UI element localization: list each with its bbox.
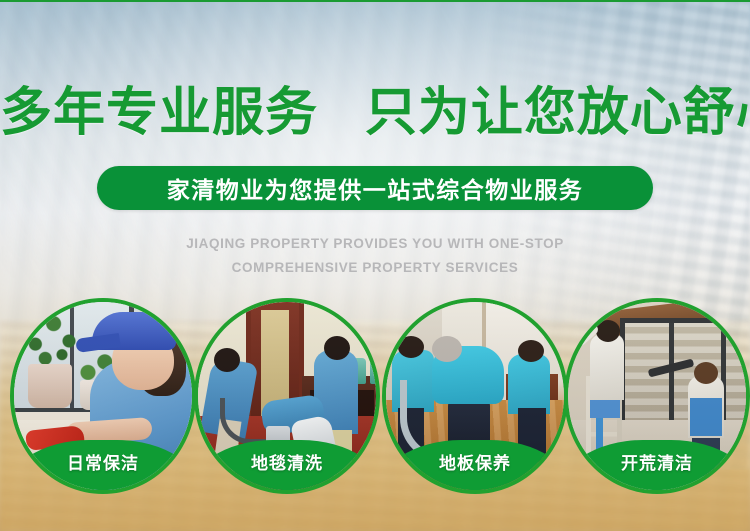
service-label: 日常保洁 (67, 449, 139, 474)
service-circle-floor-maintenance[interactable]: 地板保养 (382, 298, 568, 494)
service-circle-post-construction-cleaning[interactable]: 开荒清洁 (564, 298, 750, 494)
promo-banner: 多年专业服务 只为让您放心舒心 家清物业为您提供一站式综合物业服务 JIAQIN… (0, 0, 750, 531)
service-circle-carpet-cleaning[interactable]: 地毯清洗 (194, 298, 380, 494)
service-circle-daily-cleaning[interactable]: 日常保洁 (10, 298, 196, 494)
service-label: 地毯清洗 (251, 449, 323, 474)
headline-part-1: 多年专业服务 (0, 84, 318, 142)
top-accent-rule (0, 0, 750, 2)
service-circle-row: 日常保洁 地毯清洗 (0, 298, 750, 494)
english-subtitle-line-2: COMPREHENSIVE PROPERTY SERVICES (0, 256, 750, 280)
english-subtitle-line-1: JIAQING PROPERTY PROVIDES YOU WITH ONE-S… (186, 236, 564, 251)
tagline-pill: 家清物业为您提供一站式综合物业服务 (97, 166, 653, 210)
service-label: 开荒清洁 (621, 449, 693, 474)
english-subtitle: JIAQING PROPERTY PROVIDES YOU WITH ONE-S… (0, 232, 750, 280)
headline: 多年专业服务 只为让您放心舒心 (0, 85, 750, 141)
headline-part-2: 只为让您放心舒心 (365, 84, 750, 142)
tagline-pill-text: 家清物业为您提供一站式综合物业服务 (167, 171, 584, 205)
service-label: 地板保养 (439, 449, 511, 474)
